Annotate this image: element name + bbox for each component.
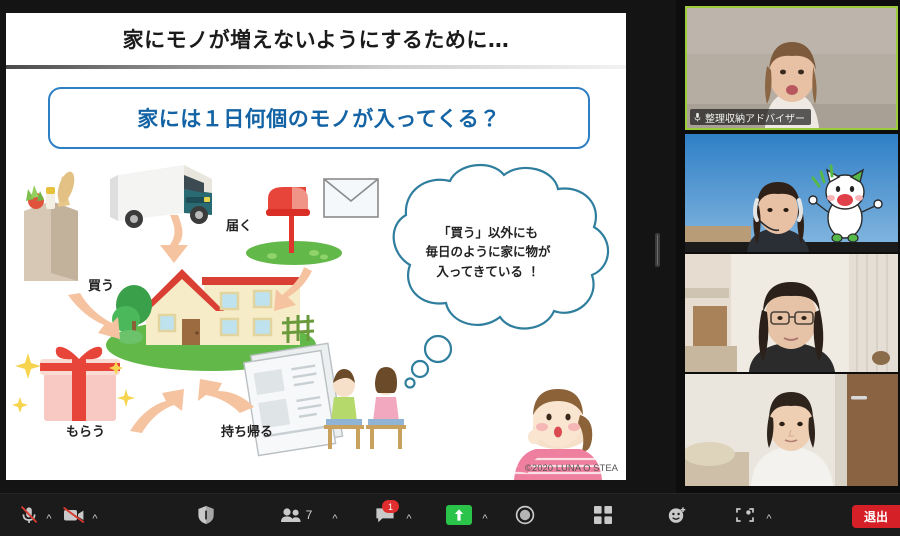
- meeting-toolbar: ^ ^ 7: [0, 493, 900, 536]
- gift-illustration: [12, 347, 135, 421]
- panel-splitter-handle[interactable]: [655, 233, 660, 267]
- video-tile-2[interactable]: [685, 134, 898, 252]
- zoom-meeting-window: 家にモノが増えないようにするために… 家には１日何個のモノが入ってくる？: [0, 0, 900, 536]
- share-screen-icon: [446, 505, 472, 525]
- slide-title: 家にモノが増えないようにするために…: [6, 13, 626, 65]
- bubble-line-3: 入ってきている ！: [388, 262, 588, 281]
- record-button[interactable]: [508, 494, 542, 536]
- label-deliver: 届く: [226, 215, 252, 234]
- apps-button[interactable]: [728, 494, 762, 536]
- share-caret[interactable]: ^: [480, 514, 490, 524]
- breakout-rooms-button[interactable]: [586, 494, 620, 536]
- participants-button[interactable]: 7: [272, 494, 320, 536]
- label-bring-home: 持ち帰る: [221, 421, 273, 440]
- video-tile-3[interactable]: [685, 254, 898, 372]
- shared-screen-stage[interactable]: 家にモノが増えないようにするために… 家には１日何個のモノが入ってくる？: [0, 0, 676, 494]
- shield-icon: [197, 505, 215, 525]
- thought-bubble-text: 「買う」以外にも 毎日のように家に物が 入ってきている ！: [388, 223, 588, 281]
- grocery-bag-illustration: [24, 170, 78, 281]
- video-tile-4[interactable]: [685, 374, 898, 486]
- bubble-line-1: 「買う」以外にも: [388, 223, 588, 242]
- presentation-slide: 家にモノが増えないようにするために… 家には１日何個のモノが入ってくる？: [6, 13, 626, 480]
- security-button[interactable]: [190, 494, 222, 536]
- participants-caret[interactable]: ^: [330, 514, 340, 524]
- mailbox-illustration: [246, 179, 378, 265]
- reactions-button[interactable]: [660, 494, 694, 536]
- chat-caret[interactable]: ^: [404, 514, 414, 524]
- label-buy: 買う: [88, 275, 114, 294]
- bubble-line-2: 毎日のように家に物が: [388, 242, 588, 261]
- participant-filmstrip: 整理収納アドバイザー: [683, 0, 900, 494]
- question-text: 家には１日何個のモノが入ってくる？: [137, 103, 500, 133]
- mute-button[interactable]: [12, 494, 46, 536]
- video-off-icon: [63, 507, 85, 523]
- question-box: 家には１日何個のモノが入ってくる？: [48, 87, 590, 149]
- reactions-icon: [667, 505, 687, 525]
- apps-icon: [735, 506, 755, 524]
- chat-button[interactable]: 1: [368, 494, 402, 536]
- share-screen-button[interactable]: [442, 494, 476, 536]
- stop-video-button[interactable]: [56, 494, 92, 536]
- slide-diagram: 買う 届く もらう 持ち帰る 「買う」以外にも 毎日のように家に物が 入ってきて…: [6, 153, 626, 480]
- delivery-truck-illustration: [110, 165, 212, 228]
- video-tile-1[interactable]: 整理収納アドバイザー: [685, 6, 898, 130]
- participant-nametag-1: 整理収納アドバイザー: [690, 109, 811, 125]
- leave-meeting-button[interactable]: 退出: [852, 505, 900, 528]
- apps-caret[interactable]: ^: [764, 514, 774, 524]
- record-icon: [515, 505, 535, 525]
- mic-options-caret[interactable]: ^: [44, 514, 54, 524]
- video-options-caret[interactable]: ^: [90, 514, 100, 524]
- breakout-rooms-icon: [594, 506, 612, 524]
- video-feed-3: [685, 254, 898, 372]
- participants-count: 7: [306, 508, 313, 522]
- video-feed-4: [685, 374, 898, 486]
- participants-icon: [280, 507, 302, 523]
- label-receive: もらう: [66, 421, 105, 440]
- participant-name-1: 整理収納アドバイザー: [705, 110, 805, 125]
- title-divider: [6, 65, 626, 69]
- chat-unread-badge: 1: [382, 500, 399, 513]
- mic-muted-icon: [694, 112, 701, 122]
- copyright-text: ©2020 LUNA O STEA: [525, 463, 618, 474]
- video-feed-2: [685, 134, 898, 252]
- mic-muted-icon: [19, 505, 39, 525]
